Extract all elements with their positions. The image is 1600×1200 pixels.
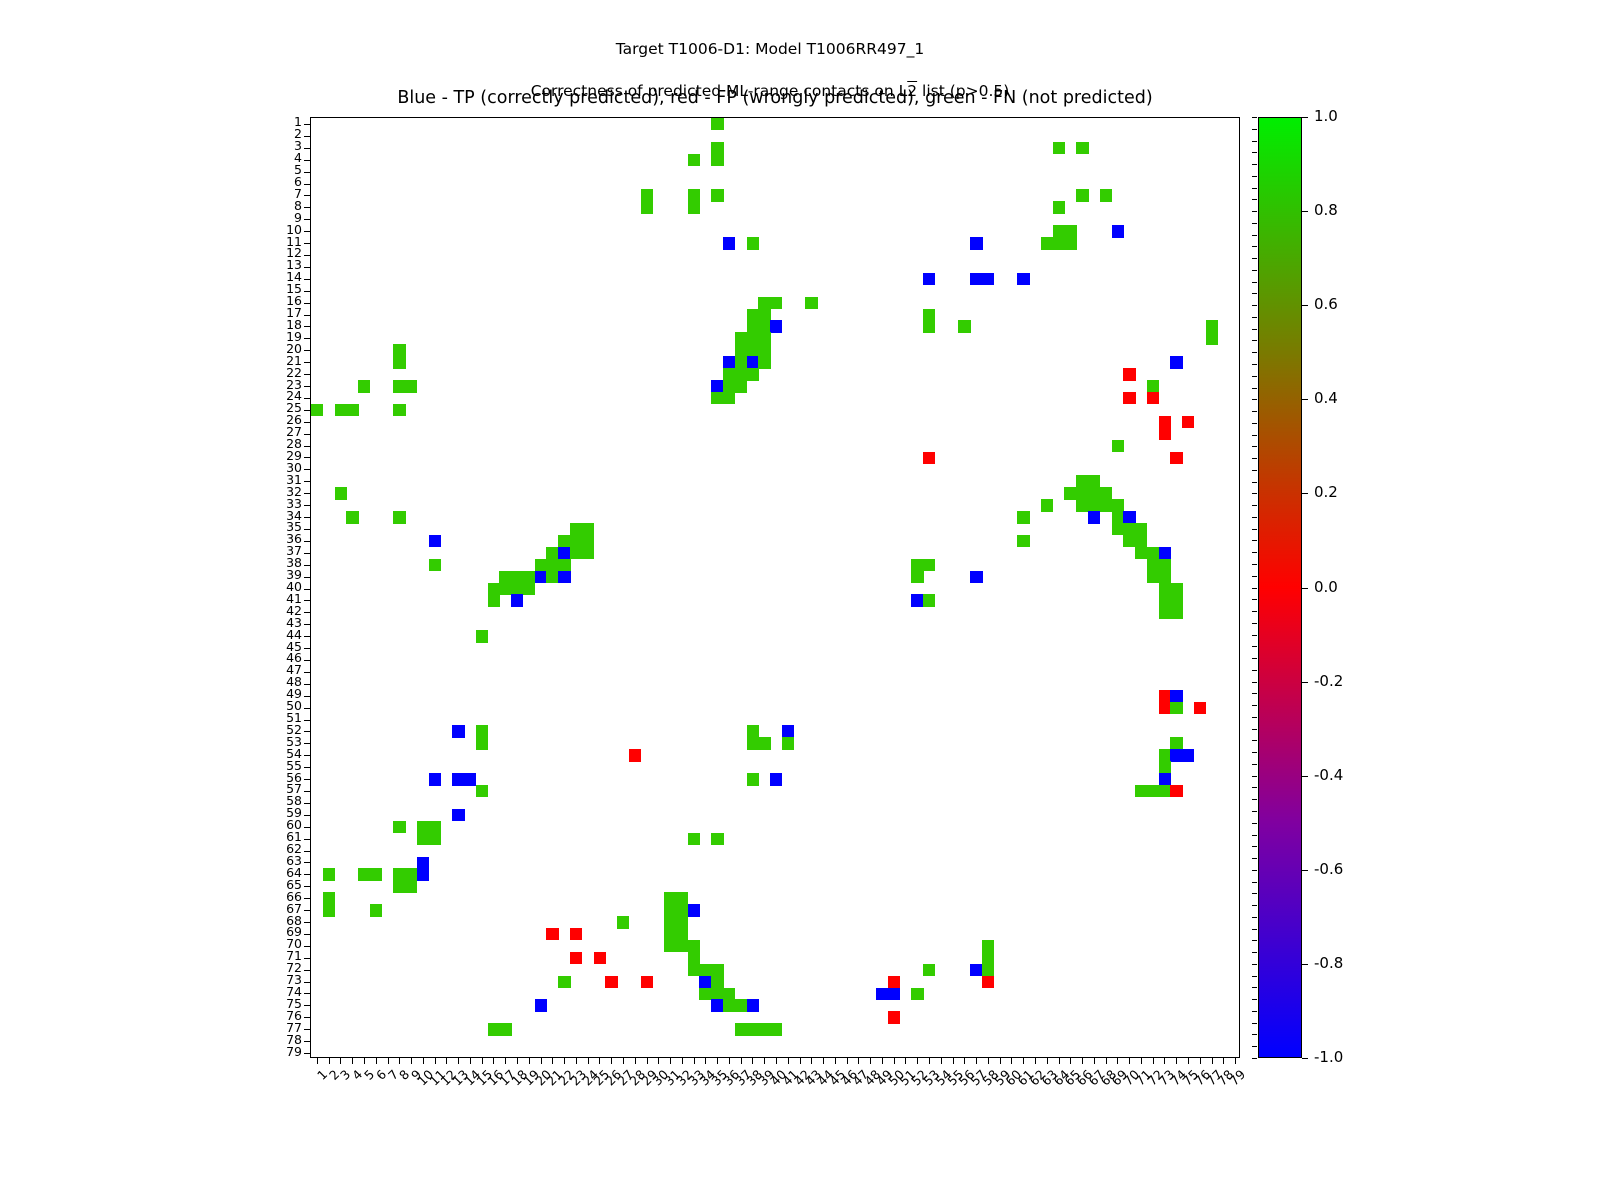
colorbar-minor-tick [1252, 705, 1257, 706]
colorbar-minor-tick [1252, 952, 1257, 953]
contact-cell-fn [735, 368, 747, 380]
colorbar-minor-tick [1252, 670, 1257, 671]
x-tick-mark [717, 1057, 718, 1064]
x-tick-mark [705, 1057, 706, 1064]
contact-cell-fp [888, 1011, 900, 1023]
x-tick-mark [493, 1057, 494, 1064]
y-tick-mark [304, 767, 311, 768]
colorbar-minor-tick [1252, 682, 1257, 683]
y-tick-mark [304, 922, 311, 923]
contact-cell-fn [711, 976, 723, 988]
y-tick-mark [304, 326, 311, 327]
colorbar-minor-tick [1252, 823, 1257, 824]
contact-cell-fn [476, 630, 488, 642]
colorbar-tick-mark [1302, 682, 1308, 683]
contact-cell-fn [1064, 487, 1076, 499]
colorbar-minor-tick [1252, 646, 1257, 647]
colorbar-tick-mark [1302, 964, 1308, 965]
contact-cell-fn [982, 952, 994, 964]
contact-cell-fp [1159, 702, 1171, 714]
colorbar-minor-tick [1252, 482, 1257, 483]
y-tick-mark [304, 648, 311, 649]
contact-cell-fn [1017, 511, 1029, 523]
colorbar-minor-tick [1252, 411, 1257, 412]
x-tick-mark [505, 1057, 506, 1064]
x-tick-mark [1129, 1057, 1130, 1064]
colorbar-minor-tick [1252, 976, 1257, 977]
contact-cell-fn [393, 868, 405, 880]
contact-cell-fn [488, 583, 500, 595]
contact-cell-fp [1147, 392, 1159, 404]
colorbar-minor-tick [1252, 588, 1257, 589]
contact-cell-fn [358, 868, 370, 880]
y-tick-mark [304, 970, 311, 971]
x-tick-mark [1212, 1057, 1213, 1064]
x-tick-mark [870, 1057, 871, 1064]
y-tick-mark [304, 231, 311, 232]
contact-cell-fn [546, 547, 558, 559]
contact-cell-fn [405, 380, 417, 392]
colorbar-minor-tick [1252, 987, 1257, 988]
contact-cell-fn [758, 309, 770, 321]
contact-map-plot[interactable] [310, 117, 1240, 1058]
colorbar-tick-mark [1302, 588, 1308, 589]
contact-cell-fn [735, 380, 747, 392]
contact-cell-tp [1112, 225, 1124, 237]
y-tick-mark [304, 696, 311, 697]
contact-cell-fn [1100, 189, 1112, 201]
x-tick-mark [847, 1057, 848, 1064]
contact-cell-fn [688, 952, 700, 964]
colorbar-tick-mark [1302, 399, 1308, 400]
contact-cell-fn [1088, 487, 1100, 499]
y-tick-mark [304, 1005, 311, 1006]
colorbar-minor-tick [1252, 223, 1257, 224]
contact-cell-tp [970, 273, 982, 285]
colorbar-minor-tick [1252, 1023, 1257, 1024]
x-tick-mark [694, 1057, 695, 1064]
x-tick-mark [1188, 1057, 1189, 1064]
y-tick-mark [304, 434, 311, 435]
y-tick-label: 7 [242, 188, 302, 200]
contact-cell-fn [782, 737, 794, 749]
x-tick-mark [1023, 1057, 1024, 1064]
colorbar-minor-tick [1252, 729, 1257, 730]
contact-cell-fn [323, 868, 335, 880]
contact-cell-tp [1170, 690, 1182, 702]
y-tick-mark [304, 541, 311, 542]
contact-cell-fn [723, 380, 735, 392]
figure-root: Target T1006-D1: Model T1006RR497_1 Corr… [0, 0, 1600, 1200]
contact-cell-fn [570, 547, 582, 559]
contact-cell-fn [1017, 535, 1029, 547]
colorbar-minor-tick [1252, 635, 1257, 636]
contact-cell-fn [511, 583, 523, 595]
colorbar-minor-tick [1252, 164, 1257, 165]
x-tick-mark [1200, 1057, 1201, 1064]
contact-cell-fn [735, 332, 747, 344]
contact-cell-fn [1159, 571, 1171, 583]
contact-cell-fn [676, 928, 688, 940]
contact-cell-fn [1159, 749, 1171, 761]
contact-cell-fn [911, 571, 923, 583]
contact-cell-fn [1159, 559, 1171, 571]
contact-cell-fn [1147, 547, 1159, 559]
contact-cell-fn [747, 773, 759, 785]
colorbar-minor-tick [1252, 258, 1257, 259]
colorbar-minor-tick [1252, 799, 1257, 800]
y-tick-mark [304, 255, 311, 256]
colorbar-minor-tick [1252, 835, 1257, 836]
x-tick-mark [647, 1057, 648, 1064]
y-tick-mark [304, 600, 311, 601]
contact-cell-fn [1147, 559, 1159, 571]
y-tick-mark [304, 862, 311, 863]
contact-cell-fn [747, 320, 759, 332]
contact-cell-fn [1076, 189, 1088, 201]
x-tick-mark [1059, 1057, 1060, 1064]
contact-cell-tp [1182, 749, 1194, 761]
x-tick-mark [623, 1057, 624, 1064]
y-tick-mark [304, 803, 311, 804]
contact-cell-fn [747, 725, 759, 737]
contact-cell-fn [735, 344, 747, 356]
x-tick-mark [317, 1057, 318, 1064]
colorbar-minor-tick [1252, 858, 1257, 859]
y-tick-mark [304, 1041, 311, 1042]
contact-cell-fn [1170, 702, 1182, 714]
colorbar-minor-tick [1252, 552, 1257, 553]
contact-cell-fn [393, 404, 405, 416]
colorbar-minor-tick [1252, 446, 1257, 447]
contact-cell-fn [758, 320, 770, 332]
contact-cell-fn [688, 201, 700, 213]
colorbar-minor-tick [1252, 787, 1257, 788]
y-tick-mark [304, 350, 311, 351]
x-tick-mark [1223, 1057, 1224, 1064]
y-tick-mark [304, 898, 311, 899]
contact-cell-fn [1147, 571, 1159, 583]
contact-cell-fn [1135, 523, 1147, 535]
y-tick-mark [304, 362, 311, 363]
x-tick-mark [1106, 1057, 1107, 1064]
contact-cell-fn [770, 297, 782, 309]
colorbar-tick-label: -1.0 [1314, 1050, 1343, 1065]
y-tick-mark [304, 207, 311, 208]
colorbar-minor-tick [1252, 870, 1257, 871]
contact-cell-fn [1064, 225, 1076, 237]
contact-cell-fp [1159, 416, 1171, 428]
x-tick-mark [800, 1057, 801, 1064]
contact-cell-fn [735, 1023, 747, 1035]
contact-cell-fn [699, 988, 711, 1000]
contact-cell-tp [1170, 356, 1182, 368]
contact-cell-tp [711, 999, 723, 1011]
y-tick-mark [304, 303, 311, 304]
contact-cell-fp [629, 749, 641, 761]
y-tick-mark [304, 1017, 311, 1018]
x-tick-mark [470, 1057, 471, 1064]
contact-cell-fn [641, 189, 653, 201]
contact-cell-fn [1112, 523, 1124, 535]
y-tick-mark [304, 410, 311, 411]
y-tick-mark [304, 839, 311, 840]
colorbar-minor-tick [1252, 717, 1257, 718]
y-tick-mark [304, 779, 311, 780]
contact-cell-fp [1159, 428, 1171, 440]
contact-cell-fn [393, 821, 405, 833]
contact-cell-fn [499, 571, 511, 583]
contact-cell-fn [758, 356, 770, 368]
colorbar-tick-mark [1302, 305, 1308, 306]
contact-cell-fn [1159, 785, 1171, 797]
contact-cell-fn [770, 1023, 782, 1035]
contact-cell-tp [1170, 749, 1182, 761]
colorbar-minor-tick [1252, 611, 1257, 612]
contact-cell-fn [676, 940, 688, 952]
contact-cell-fp [1123, 368, 1135, 380]
y-tick-mark [304, 148, 311, 149]
contact-cell-fp [1194, 702, 1206, 714]
x-tick-mark [482, 1057, 483, 1064]
contact-cell-fn [664, 892, 676, 904]
x-tick-mark [458, 1057, 459, 1064]
contact-cell-fn [664, 916, 676, 928]
colorbar-minor-tick [1252, 188, 1257, 189]
x-tick-mark [917, 1057, 918, 1064]
contact-cell-fp [923, 452, 935, 464]
x-tick-mark [894, 1057, 895, 1064]
x-tick-mark [599, 1057, 600, 1064]
y-tick-label: 6 [242, 176, 302, 188]
colorbar-minor-tick [1252, 435, 1257, 436]
contact-cell-tp [429, 773, 441, 785]
contact-cell-fn [1053, 201, 1065, 213]
contact-cell-fn [1088, 499, 1100, 511]
contact-cell-fn [1170, 606, 1182, 618]
contact-cell-fn [429, 559, 441, 571]
contact-cell-fn [346, 511, 358, 523]
colorbar-minor-tick [1252, 846, 1257, 847]
y-tick-mark [304, 338, 311, 339]
contact-cell-fn [346, 404, 358, 416]
y-tick-mark [304, 565, 311, 566]
contact-cell-fn [1206, 332, 1218, 344]
colorbar-minor-tick [1252, 176, 1257, 177]
contact-cell-fp [1170, 785, 1182, 797]
colorbar-minor-tick [1252, 529, 1257, 530]
y-tick-mark [304, 720, 311, 721]
y-tick-label: 3 [242, 140, 302, 152]
contact-cell-fn [758, 737, 770, 749]
contact-cell-tp [688, 904, 700, 916]
x-tick-mark [776, 1057, 777, 1064]
x-tick-mark [399, 1057, 400, 1064]
contact-cell-fn [1135, 547, 1147, 559]
x-tick-mark [588, 1057, 589, 1064]
colorbar-tick-label: -0.4 [1314, 768, 1343, 783]
x-tick-mark [1000, 1057, 1001, 1064]
contact-cell-fn [1076, 475, 1088, 487]
x-tick-mark [1176, 1057, 1177, 1064]
x-tick-mark [741, 1057, 742, 1064]
contact-cell-tp [782, 725, 794, 737]
colorbar-minor-tick [1252, 293, 1257, 294]
contact-cell-fp [1170, 452, 1182, 464]
y-tick-mark [304, 874, 311, 875]
contact-cell-tp [723, 237, 735, 249]
colorbar-tick-label: -0.6 [1314, 862, 1343, 877]
colorbar-tick-label: 0.8 [1314, 203, 1338, 218]
contact-cell-fn [923, 320, 935, 332]
colorbar-minor-tick [1252, 564, 1257, 565]
contact-cell-fn [405, 868, 417, 880]
contact-cell-fn [747, 737, 759, 749]
y-tick-mark [304, 160, 311, 161]
y-tick-mark [304, 195, 311, 196]
y-tick-mark [304, 243, 311, 244]
contact-cell-tp [970, 571, 982, 583]
contact-cell-fn [747, 344, 759, 356]
contact-cell-tp [558, 547, 570, 559]
contact-cell-tp [1088, 511, 1100, 523]
x-tick-mark [340, 1057, 341, 1064]
colorbar-minor-tick [1252, 317, 1257, 318]
colorbar-minor-tick [1252, 1034, 1257, 1035]
colorbar-minor-tick [1252, 235, 1257, 236]
contact-cell-fn [476, 785, 488, 797]
x-tick-mark [976, 1057, 977, 1064]
y-tick-label: 2 [242, 128, 302, 140]
x-tick-mark [1117, 1057, 1118, 1064]
x-tick-mark [635, 1057, 636, 1064]
y-tick-mark [304, 886, 311, 887]
contact-cell-fn [617, 916, 629, 928]
contact-cell-fn [546, 571, 558, 583]
x-tick-mark [1235, 1057, 1236, 1064]
x-tick-mark [764, 1057, 765, 1064]
contact-cell-fn [1112, 440, 1124, 452]
contact-cell-fp [1123, 392, 1135, 404]
colorbar-minor-tick [1252, 364, 1257, 365]
colorbar-minor-tick [1252, 882, 1257, 883]
contact-cell-fn [711, 142, 723, 154]
contact-cell-fp [570, 928, 582, 940]
contact-cell-tp [699, 976, 711, 988]
y-tick-mark [304, 946, 311, 947]
contact-cell-fn [1159, 761, 1171, 773]
colorbar-tick-mark [1302, 211, 1308, 212]
x-tick-mark [364, 1057, 365, 1064]
contact-cell-tp [911, 594, 923, 606]
colorbar-tick-label: 0.0 [1314, 580, 1338, 595]
x-tick-mark [929, 1057, 930, 1064]
y-tick-label: 5 [242, 164, 302, 176]
y-tick-mark [304, 374, 311, 375]
contact-cell-fn [1076, 499, 1088, 511]
contact-cell-tp [723, 356, 735, 368]
colorbar-minor-tick [1252, 576, 1257, 577]
contact-cell-fn [1159, 594, 1171, 606]
contact-cell-fn [923, 559, 935, 571]
y-tick-mark [304, 624, 311, 625]
colorbar-minor-tick [1252, 776, 1257, 777]
contact-cell-fp [546, 928, 558, 940]
colorbar-tick-label: -0.2 [1314, 674, 1343, 689]
colorbar-tick-label: -0.8 [1314, 956, 1343, 971]
colorbar-minor-tick [1252, 423, 1257, 424]
colorbar: 1.00.80.60.40.20.0-0.2-0.4-0.6-0.8-1.0 [1258, 117, 1302, 1058]
contact-cell-fn [723, 988, 735, 1000]
contact-cell-fn [417, 821, 429, 833]
contact-cell-fn [711, 988, 723, 1000]
contact-cell-fn [488, 594, 500, 606]
contact-cell-fn [393, 380, 405, 392]
contact-cell-fn [1206, 320, 1218, 332]
y-tick-mark [304, 589, 311, 590]
x-tick-mark [1094, 1057, 1095, 1064]
x-tick-mark [446, 1057, 447, 1064]
contact-cell-tp [1123, 511, 1135, 523]
colorbar-minor-tick [1252, 505, 1257, 506]
contact-cell-tp [535, 999, 547, 1011]
x-tick-mark [941, 1057, 942, 1064]
contact-cell-fn [641, 201, 653, 213]
contact-cell-fn [758, 1023, 770, 1035]
colorbar-minor-tick [1252, 940, 1257, 941]
contact-cell-fn [393, 356, 405, 368]
y-tick-label: 1 [242, 116, 302, 128]
x-tick-mark [423, 1057, 424, 1064]
contact-cell-fn [982, 940, 994, 952]
contact-cell-fn [546, 559, 558, 571]
y-tick-mark [304, 517, 311, 518]
contact-cell-fn [1112, 499, 1124, 511]
colorbar-minor-tick [1252, 141, 1257, 142]
contact-cell-fp [1182, 416, 1194, 428]
colorbar-minor-tick [1252, 623, 1257, 624]
contact-cell-fn [1135, 535, 1147, 547]
contact-cell-fn [1076, 142, 1088, 154]
colorbar-minor-tick [1252, 117, 1257, 118]
x-tick-mark [823, 1057, 824, 1064]
contact-cell-fn [570, 523, 582, 535]
contact-cell-tp [1017, 273, 1029, 285]
x-tick-mark [1035, 1057, 1036, 1064]
contact-cell-fn [499, 1023, 511, 1035]
y-tick-mark [304, 910, 311, 911]
contact-cell-fn [405, 880, 417, 892]
contact-cell-tp [970, 964, 982, 976]
contact-cell-fn [711, 833, 723, 845]
contact-cell-tp [1159, 547, 1171, 559]
contact-cell-fn [923, 594, 935, 606]
contact-cell-fn [335, 404, 347, 416]
contact-cell-fn [747, 332, 759, 344]
contact-cell-fn [676, 892, 688, 904]
contact-cell-fn [805, 297, 817, 309]
y-tick-mark [304, 446, 311, 447]
y-tick-mark [304, 136, 311, 137]
y-tick-mark [304, 672, 311, 673]
contact-cell-fp [1159, 690, 1171, 702]
colorbar-minor-tick [1252, 905, 1257, 906]
contact-cell-fn [582, 547, 594, 559]
x-tick-mark [517, 1057, 518, 1064]
contact-cell-tp [970, 237, 982, 249]
x-tick-mark [329, 1057, 330, 1064]
suptitle-line-1: Target T1006-D1: Model T1006RR497_1 [0, 39, 1540, 60]
